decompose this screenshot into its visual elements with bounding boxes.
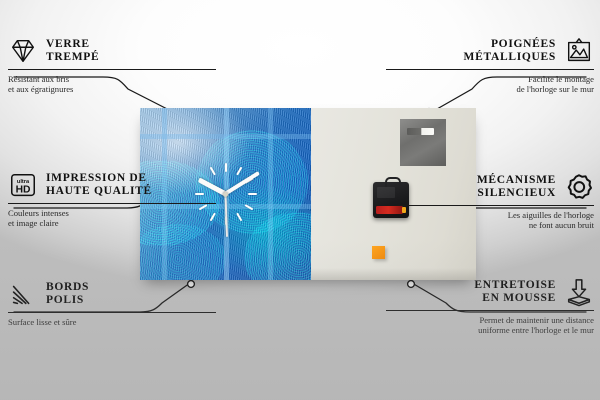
feature-title: VERRE TREMPÉ [46,38,99,65]
feature-subtitle: Surface lisse et sûre [8,317,216,328]
feature-impression-haute-qualite: ultra HD IMPRESSION DE HAUTE QUALITÉ Cou… [8,170,216,229]
feature-subtitle: Résistant aux bris et aux égratignures [8,74,216,95]
feature-mecanisme-silencieux: MÉCANISME SILENCIEUX Les aiguilles de l'… [386,172,594,231]
feature-title: POIGNÉES MÉTALLIQUES [464,38,556,65]
feature-subtitle: Les aiguilles de l'horloge ne font aucun… [386,210,594,231]
wall-frame-hook-icon [564,36,594,66]
product-infographic: VERRE TREMPÉ Résistant aux bris et aux é… [0,0,600,400]
divider [8,312,216,313]
gear-icon [564,172,594,202]
feature-entretoise-en-mousse: ENTRETOISE EN MOUSSE Permet de maintenir… [386,277,594,336]
foam-spacer-arrow-icon [564,277,594,307]
feature-title: MÉCANISME SILENCIEUX [477,174,556,201]
feature-title: IMPRESSION DE HAUTE QUALITÉ [46,172,152,199]
feature-poignees-metalliques: POIGNÉES MÉTALLIQUES Facilite le montage… [386,36,594,95]
feature-subtitle: Permet de maintenir une distance uniform… [386,315,594,336]
clock-center-pin [223,192,228,197]
orange-foam-spacer [372,246,385,259]
diamond-icon [8,36,38,66]
divider [386,310,594,311]
feature-title: BORDS POLIS [46,281,89,308]
divider [386,205,594,206]
feature-subtitle: Couleurs intenses et image claire [8,208,216,229]
divider [8,203,216,204]
feature-title: ENTRETOISE EN MOUSSE [474,279,556,306]
polished-edges-icon [8,279,38,309]
metal-hanger-plate [400,119,446,166]
feature-verre-trempe: VERRE TREMPÉ Résistant aux bris et aux é… [8,36,216,95]
hanger-slot [407,128,434,135]
ultra-hd-icon-bottom-text: HD [16,185,31,196]
ultra-hd-icon: ultra HD [8,170,38,200]
divider [386,69,594,70]
feature-bords-polis: BORDS POLIS Surface lisse et sûre [8,279,216,327]
divider [8,69,216,70]
feature-subtitle: Facilite le montage de l'horloge sur le … [386,74,594,95]
